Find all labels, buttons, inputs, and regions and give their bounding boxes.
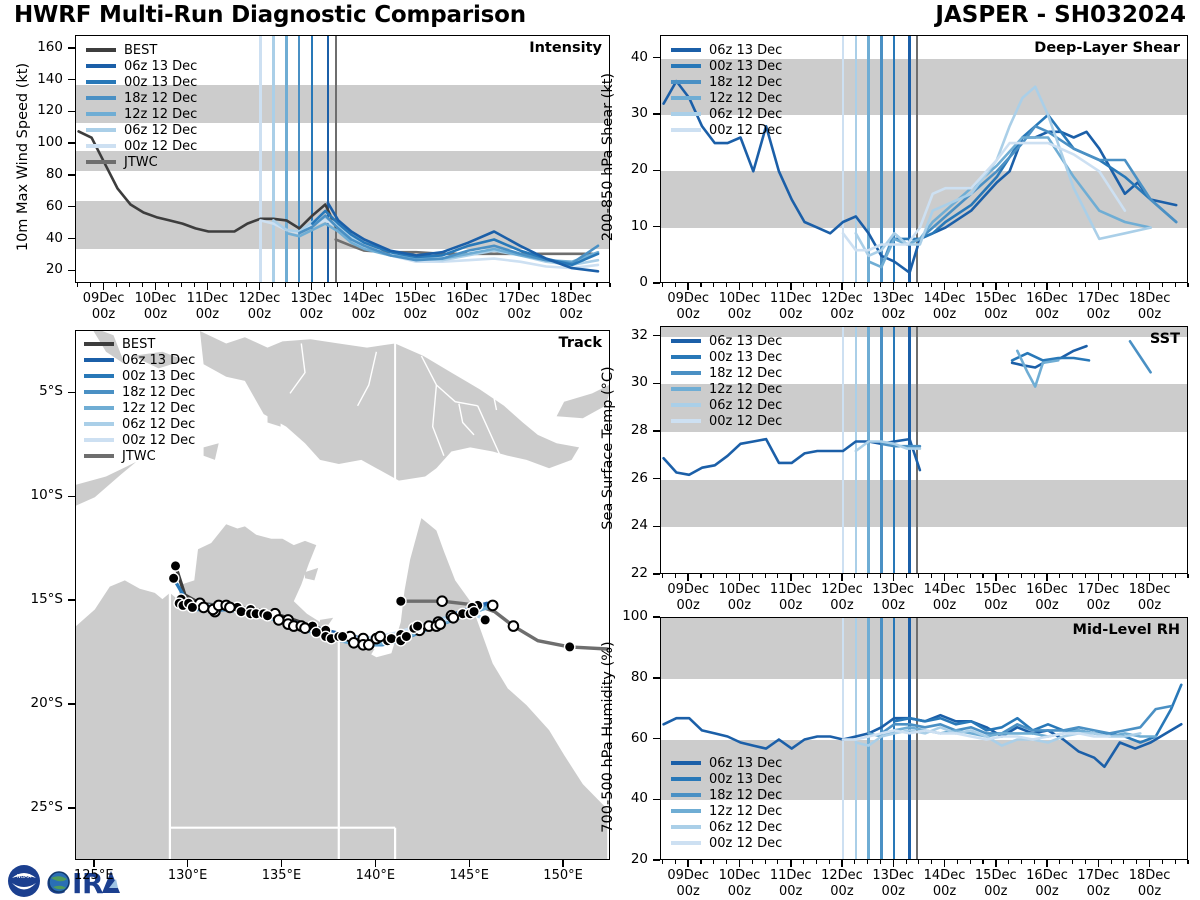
page-title-left: HWRF Multi-Run Diagnostic Comparison bbox=[14, 2, 526, 28]
sst-xtick-mark-3 bbox=[841, 574, 843, 581]
noaa-logo-icon: NOAA bbox=[8, 865, 40, 897]
track-legend-swatch-6 bbox=[84, 438, 114, 442]
track-lat-tick-mark-3 bbox=[68, 703, 75, 705]
rh-xtick-minor bbox=[906, 860, 907, 864]
shear-xtick-minor bbox=[1072, 283, 1073, 287]
track-legend-label-2: 00z 13 Dec bbox=[122, 369, 195, 384]
sst-legend-item-5: 00z 12 Dec bbox=[671, 413, 782, 429]
rh-xtick-minor bbox=[1085, 860, 1086, 864]
sst-legend-label-0: 06z 13 Dec bbox=[709, 334, 782, 349]
intensity-xtick-minor bbox=[389, 283, 390, 287]
track-marker-7-14 bbox=[449, 613, 459, 623]
intensity-xtick-minor bbox=[376, 283, 377, 287]
sst-xtick-minor bbox=[931, 574, 932, 578]
shear-xtick-minor bbox=[880, 283, 881, 287]
shear-legend-swatch-2 bbox=[671, 80, 701, 84]
rh-legend-swatch-5 bbox=[671, 841, 701, 845]
intensity-xtick-hour-7: 00z bbox=[455, 307, 478, 322]
rh-legend-item-3: 12z 12 Dec bbox=[671, 803, 782, 819]
intensity-legend-swatch-6 bbox=[86, 144, 116, 148]
intensity-xtick-minor bbox=[220, 283, 221, 287]
intensity-legend-item-3: 18z 12 Dec bbox=[86, 90, 197, 106]
intensity-legend-swatch-1 bbox=[86, 64, 116, 68]
shear-plot-area: Deep-Layer Shear 06z 13 Dec00z 13 Dec18z… bbox=[660, 35, 1188, 283]
intensity-ytick-mark-2 bbox=[68, 206, 75, 208]
track-lon-tick-mark-3 bbox=[375, 860, 377, 867]
track-legend-swatch-2 bbox=[84, 374, 114, 378]
shear-legend-item-0: 06z 13 Dec bbox=[671, 42, 782, 58]
intensity-ytick-mark-0 bbox=[68, 270, 75, 272]
intensity-xtick-hour-4: 00z bbox=[300, 307, 323, 322]
rh-xtick-minor bbox=[713, 860, 714, 864]
shear-xtick-hour-1: 00z bbox=[728, 307, 751, 322]
sst-xtick-minor bbox=[1175, 574, 1176, 578]
track-marker-7-6 bbox=[300, 623, 310, 633]
sst-legend-swatch-5 bbox=[671, 419, 701, 423]
intensity-xtick-minor bbox=[194, 283, 195, 287]
shear-ytick-mark-0 bbox=[653, 282, 660, 284]
rh-legend-item-1: 00z 13 Dec bbox=[671, 771, 782, 787]
shear-xtick-hour-9: 00z bbox=[1138, 307, 1161, 322]
sst-legend-swatch-0 bbox=[671, 339, 701, 343]
shear-xtick-minor bbox=[765, 283, 766, 287]
rh-xtick-mark-2 bbox=[790, 860, 792, 867]
rh-legend-label-3: 12z 12 Dec bbox=[709, 804, 782, 819]
rh-xtick-minor bbox=[829, 860, 830, 864]
shear-legend-swatch-1 bbox=[671, 64, 701, 68]
shear-xtick-minor bbox=[1187, 283, 1188, 287]
shear-xtick-minor bbox=[1162, 283, 1163, 287]
shear-legend-label-5: 00z 12 Dec bbox=[709, 123, 782, 138]
sst-xtick-minor bbox=[726, 574, 727, 578]
intensity-legend-label-4: 12z 12 Dec bbox=[124, 107, 197, 122]
rh-xtick-minor bbox=[816, 860, 817, 864]
rh-xtick-minor bbox=[1059, 860, 1060, 864]
rh-xtick-minor bbox=[1111, 860, 1112, 864]
intensity-xtick-minor bbox=[558, 283, 559, 287]
rh-xtick-minor bbox=[752, 860, 753, 864]
sst-legend-swatch-4 bbox=[671, 403, 701, 407]
track-marker-7-10 bbox=[375, 632, 385, 642]
track-marker-1-2 bbox=[437, 596, 447, 606]
rh-legend-item-0: 06z 13 Dec bbox=[671, 755, 782, 771]
rh-xtick-mark-6 bbox=[995, 860, 997, 867]
sst-ytick-mark-1 bbox=[653, 526, 660, 528]
sst-xtick-minor bbox=[816, 574, 817, 578]
sst-xtick-hour-0: 00z bbox=[677, 598, 700, 613]
shear-legend-swatch-5 bbox=[671, 128, 701, 132]
rh-xtick-minor bbox=[1175, 860, 1176, 864]
rh-xtick-label-9: 18Dec00z bbox=[1110, 868, 1190, 900]
sst-xtick-minor bbox=[867, 574, 868, 578]
sst-xtick-hour-9: 00z bbox=[1138, 598, 1161, 613]
rh-ytick-mark-0 bbox=[653, 859, 660, 861]
rh-legend-label-2: 18z 12 Dec bbox=[709, 788, 782, 803]
sst-legend-item-1: 00z 13 Dec bbox=[671, 349, 782, 365]
intensity-xtick-hour-3: 00z bbox=[248, 307, 271, 322]
sst-xtick-hour-4: 00z bbox=[882, 598, 905, 613]
shear-xtick-minor bbox=[1111, 283, 1112, 287]
intensity-xtick-minor bbox=[480, 283, 481, 287]
sst-xtick-minor bbox=[918, 574, 919, 578]
sst-xtick-mark-6 bbox=[995, 574, 997, 581]
sst-xtick-hour-5: 00z bbox=[933, 598, 956, 613]
rh-legend-swatch-1 bbox=[671, 777, 701, 781]
sst-xtick-hour-8: 00z bbox=[1087, 598, 1110, 613]
sst-xtick-minor bbox=[803, 574, 804, 578]
sst-ytick-mark-3 bbox=[653, 430, 660, 432]
intensity-xtick-mark-6 bbox=[415, 283, 417, 290]
shear-legend-label-0: 06z 13 Dec bbox=[709, 43, 782, 58]
intensity-xtick-mark-7 bbox=[466, 283, 468, 290]
intensity-xtick-minor bbox=[402, 283, 403, 287]
track-marker-0-0 bbox=[170, 561, 180, 571]
rh-legend-label-5: 00z 12 Dec bbox=[709, 836, 782, 851]
track-legend-label-0: BEST bbox=[122, 337, 155, 352]
shear-xtick-hour-2: 00z bbox=[779, 307, 802, 322]
intensity-xtick-date-9: 18Dec bbox=[550, 291, 592, 306]
sst-legend-label-4: 06z 12 Dec bbox=[709, 398, 782, 413]
track-lon-tick-label-3: 140°E bbox=[335, 868, 415, 884]
rh-legend-item-2: 18z 12 Dec bbox=[671, 787, 782, 803]
sst-legend: 06z 13 Dec00z 13 Dec18z 12 Dec12z 12 Dec… bbox=[671, 333, 782, 429]
sst-xtick-minor bbox=[700, 574, 701, 578]
sst-xtick-hour-6: 00z bbox=[984, 598, 1007, 613]
sst-xtick-minor bbox=[1059, 574, 1060, 578]
shear-legend-label-4: 06z 12 Dec bbox=[709, 107, 782, 122]
intensity-xtick-minor bbox=[441, 283, 442, 287]
shear-xtick-mark-4 bbox=[893, 283, 895, 290]
shear-xtick-hour-8: 00z bbox=[1087, 307, 1110, 322]
track-lat-tick-mark-1 bbox=[68, 496, 75, 498]
sst-xtick-minor bbox=[713, 574, 714, 578]
sst-xtick-minor bbox=[970, 574, 971, 578]
track-marker-6-16 bbox=[480, 615, 490, 625]
sst-plot-area: SST 06z 13 Dec00z 13 Dec18z 12 Dec12z 12… bbox=[660, 326, 1188, 574]
intensity-xtick-minor bbox=[532, 283, 533, 287]
intensity-xtick-mark-0 bbox=[103, 283, 105, 290]
intensity-legend-item-4: 12z 12 Dec bbox=[86, 106, 197, 122]
intensity-xtick-minor bbox=[246, 283, 247, 287]
shear-xtick-date-9: 18Dec bbox=[1129, 291, 1171, 306]
shear-xtick-minor bbox=[1034, 283, 1035, 287]
intensity-xtick-hour-0: 00z bbox=[92, 307, 115, 322]
intensity-legend-label-2: 00z 13 Dec bbox=[124, 75, 197, 90]
shear-xtick-mark-9 bbox=[1149, 283, 1151, 290]
panel-shear: Deep-Layer Shear 06z 13 Dec00z 13 Dec18z… bbox=[660, 35, 1188, 283]
shear-legend-item-2: 18z 12 Dec bbox=[671, 74, 782, 90]
rh-xtick-minor bbox=[970, 860, 971, 864]
rh-xtick-hour-0: 00z bbox=[677, 884, 700, 899]
intensity-panel-label: Intensity bbox=[529, 40, 602, 56]
shear-legend: 06z 13 Dec00z 13 Dec18z 12 Dec12z 12 Dec… bbox=[671, 42, 782, 138]
sst-xtick-minor bbox=[829, 574, 830, 578]
shear-series-2 bbox=[881, 126, 1176, 267]
track-legend-item-0: BEST bbox=[84, 336, 195, 352]
sst-xtick-minor bbox=[1034, 574, 1035, 578]
shear-xtick-minor bbox=[803, 283, 804, 287]
track-marker-7-8 bbox=[337, 631, 347, 641]
svg-text:NOAA: NOAA bbox=[17, 874, 32, 880]
intensity-xtick-minor bbox=[298, 283, 299, 287]
sst-legend-label-3: 12z 12 Dec bbox=[709, 382, 782, 397]
shear-legend-item-1: 00z 13 Dec bbox=[671, 58, 782, 74]
sst-legend-label-2: 18z 12 Dec bbox=[709, 366, 782, 381]
sst-xtick-mark-4 bbox=[893, 574, 895, 581]
track-lon-tick-label-4: 145°E bbox=[429, 868, 509, 884]
sst-legend-item-3: 12z 12 Dec bbox=[671, 381, 782, 397]
intensity-legend-label-6: 00z 12 Dec bbox=[124, 139, 197, 154]
land-australia bbox=[76, 518, 607, 860]
intensity-xtick-mark-2 bbox=[207, 283, 209, 290]
intensity-legend-label-0: BEST bbox=[124, 43, 157, 58]
rh-xtick-minor bbox=[765, 860, 766, 864]
intensity-legend-item-7: JTWC bbox=[86, 154, 197, 170]
panel-track: Track BEST06z 13 Dec00z 13 Dec18z 12 Dec… bbox=[75, 330, 610, 860]
rh-xtick-hour-5: 00z bbox=[933, 884, 956, 899]
intensity-plot-area: Intensity BEST06z 13 Dec00z 13 Dec18z 12… bbox=[75, 35, 610, 283]
rh-xtick-minor bbox=[1187, 860, 1188, 864]
track-legend-label-5: 06z 12 Dec bbox=[122, 417, 195, 432]
rh-xtick-hour-1: 00z bbox=[728, 884, 751, 899]
shear-legend-label-3: 12z 12 Dec bbox=[709, 91, 782, 106]
shear-legend-swatch-3 bbox=[671, 96, 701, 100]
intensity-xtick-minor bbox=[77, 283, 78, 287]
sst-legend-swatch-3 bbox=[671, 387, 701, 391]
sst-xtick-date-9: 18Dec bbox=[1129, 582, 1171, 597]
sst-series-4 bbox=[1012, 353, 1089, 360]
shear-legend-label-2: 18z 12 Dec bbox=[709, 75, 782, 90]
track-legend-item-2: 00z 13 Dec bbox=[84, 368, 195, 384]
intensity-ytick-mark-4 bbox=[68, 142, 75, 144]
sst-xtick-label-9: 18Dec00z bbox=[1110, 582, 1190, 615]
track-legend-label-3: 18z 12 Dec bbox=[122, 385, 195, 400]
intensity-legend-item-2: 00z 13 Dec bbox=[86, 74, 197, 90]
intensity-legend-swatch-5 bbox=[86, 128, 116, 132]
shear-xtick-minor bbox=[906, 283, 907, 287]
track-marker-5-16 bbox=[469, 606, 479, 616]
shear-xtick-minor bbox=[854, 283, 855, 287]
shear-xtick-mark-6 bbox=[995, 283, 997, 290]
track-legend-item-4: 12z 12 Dec bbox=[84, 400, 195, 416]
track-marker-7-0 bbox=[187, 602, 197, 612]
intensity-legend-swatch-2 bbox=[86, 80, 116, 84]
rh-xtick-minor bbox=[982, 860, 983, 864]
shear-xtick-minor bbox=[931, 283, 932, 287]
track-legend-item-7: JTWC bbox=[84, 448, 195, 464]
shear-legend-label-1: 00z 13 Dec bbox=[709, 59, 782, 74]
rh-xtick-minor bbox=[1034, 860, 1035, 864]
track-legend-swatch-3 bbox=[84, 390, 114, 394]
rh-xtick-minor bbox=[1008, 860, 1009, 864]
intensity-xtick-mark-4 bbox=[311, 283, 313, 290]
intensity-legend-item-0: BEST bbox=[86, 42, 197, 58]
intensity-legend-label-1: 06z 13 Dec bbox=[124, 59, 197, 74]
intensity-legend-item-5: 06z 12 Dec bbox=[86, 122, 197, 138]
sst-xtick-minor bbox=[1136, 574, 1137, 578]
sst-xtick-minor bbox=[752, 574, 753, 578]
intensity-xtick-mark-9 bbox=[570, 283, 572, 290]
intensity-xtick-hour-5: 00z bbox=[352, 307, 375, 322]
track-legend-item-3: 18z 12 Dec bbox=[84, 384, 195, 400]
rh-xtick-date-9: 18Dec bbox=[1129, 868, 1171, 883]
track-plot-area: Track BEST06z 13 Dec00z 13 Dec18z 12 Dec… bbox=[75, 330, 610, 860]
rh-xtick-minor bbox=[880, 860, 881, 864]
sst-xtick-minor bbox=[1085, 574, 1086, 578]
sst-legend-swatch-1 bbox=[671, 355, 701, 359]
track-lat-tick-label-0: 5°S bbox=[13, 383, 63, 399]
sst-xtick-minor bbox=[1008, 574, 1009, 578]
intensity-xtick-minor bbox=[506, 283, 507, 287]
rh-legend-swatch-0 bbox=[671, 761, 701, 765]
sst-xtick-mark-1 bbox=[739, 574, 741, 581]
sst-xtick-minor bbox=[1162, 574, 1163, 578]
shear-ytick-mark-4 bbox=[653, 57, 660, 59]
shear-xtick-mark-3 bbox=[841, 283, 843, 290]
sst-legend-item-2: 18z 12 Dec bbox=[671, 365, 782, 381]
sst-legend-item-4: 06z 12 Dec bbox=[671, 397, 782, 413]
rh-legend-swatch-4 bbox=[671, 825, 701, 829]
track-legend-swatch-7 bbox=[84, 454, 114, 458]
page-title-right: JASPER - SH032024 bbox=[935, 2, 1186, 28]
rh-ytick-mark-2 bbox=[653, 738, 660, 740]
shear-xtick-minor bbox=[726, 283, 727, 287]
rh-xtick-hour-8: 00z bbox=[1087, 884, 1110, 899]
sst-xtick-minor bbox=[662, 574, 663, 578]
shear-xtick-hour-4: 00z bbox=[882, 307, 905, 322]
intensity-xtick-minor bbox=[545, 283, 546, 287]
rh-xtick-mark-7 bbox=[1046, 860, 1048, 867]
intensity-xtick-minor bbox=[324, 283, 325, 287]
track-marker-1-8 bbox=[565, 642, 575, 652]
intensity-xtick-mark-8 bbox=[518, 283, 520, 290]
rh-xtick-mark-0 bbox=[687, 860, 689, 867]
rh-panel-label: Mid-Level RH bbox=[1073, 622, 1180, 638]
intensity-xtick-minor bbox=[350, 283, 351, 287]
land-groote-eylandt bbox=[305, 568, 318, 581]
track-marker-3-12 bbox=[386, 633, 396, 643]
track-marker-3-10 bbox=[349, 638, 359, 648]
track-marker-3-0 bbox=[168, 573, 178, 583]
shear-xtick-hour-3: 00z bbox=[830, 307, 853, 322]
track-lon-tick-mark-1 bbox=[187, 860, 189, 867]
intensity-xtick-minor bbox=[583, 283, 584, 287]
rh-xtick-minor bbox=[1123, 860, 1124, 864]
sst-xtick-hour-2: 00z bbox=[779, 598, 802, 613]
rh-xtick-minor bbox=[1162, 860, 1163, 864]
shear-xtick-minor bbox=[700, 283, 701, 287]
shear-legend-item-3: 12z 12 Dec bbox=[671, 90, 782, 106]
track-lat-tick-mark-2 bbox=[68, 599, 75, 601]
intensity-xtick-minor bbox=[454, 283, 455, 287]
shear-xtick-mark-1 bbox=[739, 283, 741, 290]
sst-xtick-minor bbox=[957, 574, 958, 578]
shear-series-4 bbox=[856, 87, 1151, 256]
shear-xtick-minor bbox=[777, 283, 778, 287]
track-legend-item-5: 06z 12 Dec bbox=[84, 416, 195, 432]
land-timor bbox=[76, 462, 136, 506]
shear-xtick-minor bbox=[1085, 283, 1086, 287]
track-marker-3-4 bbox=[236, 606, 246, 616]
sst-legend-item-0: 06z 13 Dec bbox=[671, 333, 782, 349]
rh-xtick-minor bbox=[918, 860, 919, 864]
shear-xtick-minor bbox=[662, 283, 663, 287]
intensity-xtick-hour-1: 00z bbox=[144, 307, 167, 322]
sst-xtick-mark-0 bbox=[687, 574, 689, 581]
shear-xtick-mark-7 bbox=[1046, 283, 1048, 290]
track-lon-tick-label-5: 150°E bbox=[523, 868, 603, 884]
rh-legend-label-0: 06z 13 Dec bbox=[709, 756, 782, 771]
intensity-xtick-minor bbox=[272, 283, 273, 287]
intensity-ytick-mark-6 bbox=[68, 79, 75, 81]
rh-legend-swatch-3 bbox=[671, 809, 701, 813]
sst-legend-swatch-2 bbox=[671, 371, 701, 375]
shear-xtick-minor bbox=[752, 283, 753, 287]
intensity-legend-swatch-3 bbox=[86, 96, 116, 100]
intensity-xtick-minor bbox=[142, 283, 143, 287]
shear-xtick-minor bbox=[1059, 283, 1060, 287]
sst-panel-label: SST bbox=[1150, 331, 1180, 347]
track-legend: BEST06z 13 Dec00z 13 Dec18z 12 Dec12z 12… bbox=[84, 336, 195, 464]
rh-xtick-mark-3 bbox=[841, 860, 843, 867]
shear-legend-item-5: 00z 12 Dec bbox=[671, 122, 782, 138]
rh-xtick-mark-8 bbox=[1098, 860, 1100, 867]
track-legend-swatch-1 bbox=[84, 358, 114, 362]
intensity-xtick-minor bbox=[596, 283, 597, 287]
rh-xtick-mark-1 bbox=[739, 860, 741, 867]
rh-xtick-hour-3: 00z bbox=[830, 884, 853, 899]
intensity-xtick-minor bbox=[129, 283, 130, 287]
rh-ytick-mark-3 bbox=[653, 677, 660, 679]
shear-xtick-minor bbox=[816, 283, 817, 287]
shear-xtick-minor bbox=[675, 283, 676, 287]
intensity-xtick-minor bbox=[168, 283, 169, 287]
sst-ytick-mark-5 bbox=[653, 335, 660, 337]
track-lat-tick-label-3: 20°S bbox=[13, 695, 63, 711]
track-lon-tick-label-2: 135°E bbox=[241, 868, 321, 884]
sst-xtick-minor bbox=[854, 574, 855, 578]
track-marker-5-14 bbox=[435, 619, 445, 629]
track-legend-swatch-5 bbox=[84, 422, 114, 426]
sst-xtick-minor bbox=[1072, 574, 1073, 578]
intensity-legend-label-5: 06z 12 Dec bbox=[124, 123, 197, 138]
intensity-xtick-minor bbox=[90, 283, 91, 287]
shear-xtick-minor bbox=[970, 283, 971, 287]
track-marker-7-4 bbox=[262, 611, 272, 621]
panel-rh: Mid-Level RH 06z 13 Dec00z 13 Dec18z 12 … bbox=[660, 617, 1188, 860]
intensity-xtick-hour-9: 00z bbox=[559, 307, 582, 322]
sst-ytick-mark-2 bbox=[653, 478, 660, 480]
intensity-ytick-mark-3 bbox=[68, 174, 75, 176]
shear-xtick-label-9: 18Dec00z bbox=[1110, 291, 1190, 324]
track-legend-label-6: 00z 12 Dec bbox=[122, 433, 195, 448]
rh-xtick-hour-7: 00z bbox=[1035, 884, 1058, 899]
sst-legend-label-5: 00z 12 Dec bbox=[709, 414, 782, 429]
sst-xtick-minor bbox=[675, 574, 676, 578]
rh-xtick-mark-4 bbox=[893, 860, 895, 867]
shear-legend-item-4: 06z 12 Dec bbox=[671, 106, 782, 122]
rh-legend-label-4: 06z 12 Dec bbox=[709, 820, 782, 835]
intensity-legend-swatch-4 bbox=[86, 112, 116, 116]
intensity-legend-item-6: 00z 12 Dec bbox=[86, 138, 197, 154]
intensity-xtick-minor bbox=[337, 283, 338, 287]
shear-xtick-mark-0 bbox=[687, 283, 689, 290]
sst-series-6 bbox=[1130, 341, 1151, 372]
track-lon-tick-label-0: 125°E bbox=[54, 868, 134, 884]
track-legend-label-7: JTWC bbox=[122, 449, 156, 464]
track-legend-swatch-0 bbox=[84, 342, 114, 346]
rh-legend-item-5: 00z 12 Dec bbox=[671, 835, 782, 851]
